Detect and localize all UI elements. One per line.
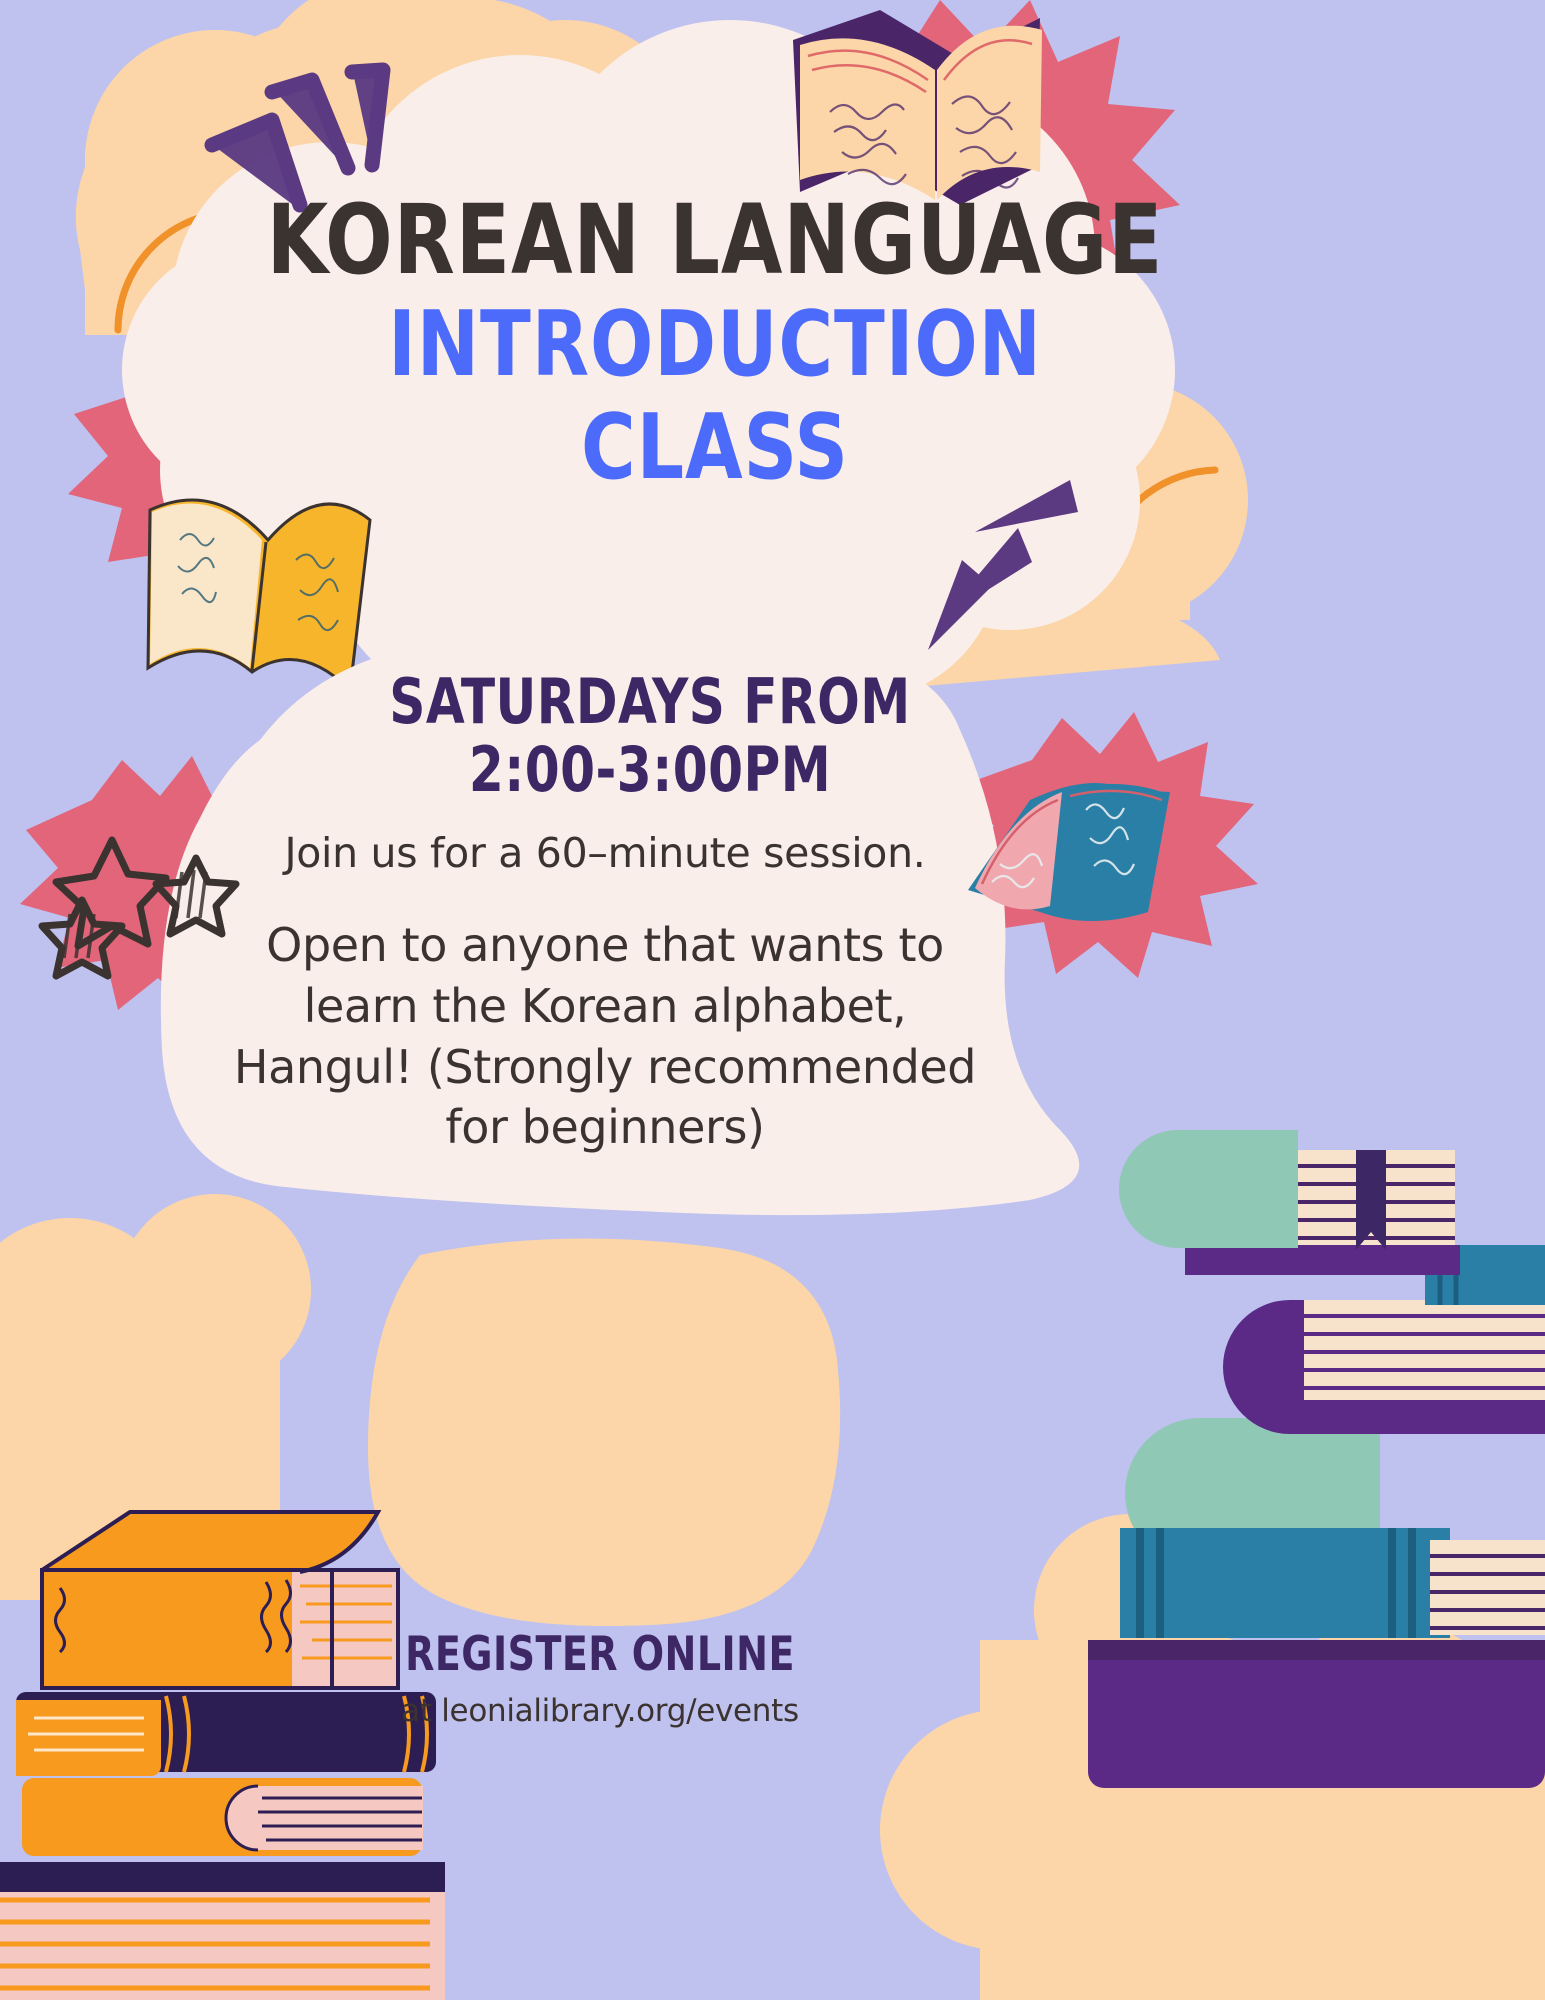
- register-blob: [368, 1239, 840, 1627]
- schedule-block: Saturdays from 2:00-3:00PM: [300, 668, 1000, 804]
- register-url[interactable]: at leonialibrary.org/events: [350, 1693, 850, 1730]
- schedule-line-1: Saturdays from: [335, 668, 965, 736]
- book-stack-bottom-left: [0, 1512, 445, 2000]
- description-body-line-2: learn the Korean alphabet,: [190, 976, 1020, 1037]
- description-block: Join us for a 60–minute session. Open to…: [190, 828, 1020, 1158]
- poster-canvas: Korean Language Introduction Class Satur…: [0, 0, 1545, 2000]
- schedule-line-2: 2:00-3:00PM: [335, 736, 965, 804]
- description-body-line-4: for beginners): [190, 1097, 1020, 1158]
- open-book-top-right: [793, 10, 1042, 205]
- title-line-3: Class: [195, 399, 1235, 496]
- title-block: Korean Language Introduction Class: [150, 192, 1280, 496]
- title-line-2: Introduction: [195, 296, 1235, 393]
- register-block[interactable]: Register Online at leonialibrary.org/eve…: [350, 1630, 850, 1731]
- description-body-line-3: Hangul! (Strongly recommended: [190, 1037, 1020, 1098]
- register-heading: Register Online: [375, 1630, 825, 1679]
- title-line-1: Korean Language: [195, 192, 1235, 290]
- description-lead: Join us for a 60–minute session.: [190, 828, 1020, 879]
- description-body: Open to anyone that wants to learn the K…: [190, 915, 1020, 1158]
- description-body-line-1: Open to anyone that wants to: [190, 915, 1020, 976]
